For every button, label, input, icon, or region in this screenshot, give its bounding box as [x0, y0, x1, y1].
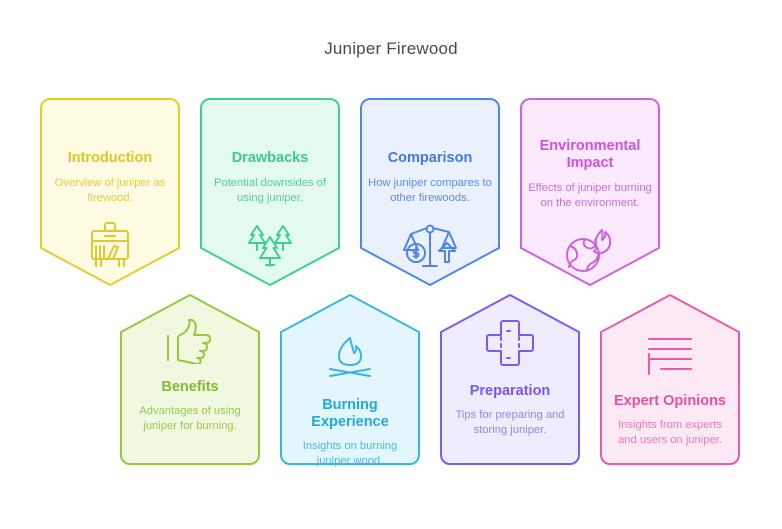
card-comparison[interactable]: ComparisonHow juniper compares to other …: [360, 98, 500, 286]
card-drawbacks[interactable]: DrawbacksPotential downsides of using ju…: [200, 98, 340, 286]
page-title: Juniper Firewood: [0, 39, 782, 59]
infographic-canvas: Juniper Firewood IntroductionOverview of…: [0, 0, 782, 529]
card-content-preparation: PreparationTips for preparing and storin…: [440, 294, 580, 439]
card-title-environmental-impact: Environmental Impact: [520, 138, 660, 172]
card-content-burning-experience: Burning ExperienceInsights on burning ju…: [280, 294, 420, 470]
card-description-drawbacks: Potential downsides of using juniper.: [200, 176, 340, 207]
globe-flame-icon: [561, 225, 619, 280]
card-description-burning-experience: Insights on burning juniper wood.: [280, 439, 420, 470]
card-title-benefits: Benefits: [155, 379, 224, 396]
campfire-icon: [322, 334, 378, 387]
card-title-expert-opinions: Expert Opinions: [608, 393, 732, 410]
card-content-benefits: BenefitsAdvantages of using juniper for …: [120, 294, 260, 435]
card-environmental-impact[interactable]: Environmental ImpactEffects of juniper b…: [520, 98, 660, 286]
card-burning-experience[interactable]: Burning ExperienceInsights on burning ju…: [280, 294, 420, 466]
card-content-drawbacks: DrawbacksPotential downsides of using ju…: [200, 98, 340, 275]
card-title-preparation: Preparation: [464, 383, 557, 400]
cabinet-bookshelf-icon: [83, 220, 137, 275]
card-title-drawbacks: Drawbacks: [226, 150, 315, 167]
card-expert-opinions[interactable]: Expert OpinionsInsights from experts and…: [600, 294, 740, 466]
cross-bandage-icon: [484, 318, 536, 373]
card-description-expert-opinions: Insights from experts and users on junip…: [600, 418, 740, 449]
scales-cost-icon: [403, 220, 457, 275]
card-description-environmental-impact: Effects of juniper burning on the enviro…: [520, 181, 660, 212]
card-introduction[interactable]: IntroductionOverview of juniper as firew…: [40, 98, 180, 286]
quote-lines-icon: [643, 334, 697, 383]
card-description-benefits: Advantages of using juniper for burning.: [120, 404, 260, 435]
card-content-environmental-impact: Environmental ImpactEffects of juniper b…: [520, 98, 660, 280]
card-title-introduction: Introduction: [62, 150, 159, 167]
thumbs-up-icon: [164, 318, 216, 369]
card-content-comparison: ComparisonHow juniper compares to other …: [360, 98, 500, 275]
card-description-comparison: How juniper compares to other firewoods.: [360, 176, 500, 207]
card-title-comparison: Comparison: [382, 150, 479, 167]
card-description-introduction: Overview of juniper as firewood.: [40, 176, 180, 207]
card-content-expert-opinions: Expert OpinionsInsights from experts and…: [600, 294, 740, 449]
card-title-burning-experience: Burning Experience: [280, 397, 420, 431]
card-benefits[interactable]: BenefitsAdvantages of using juniper for …: [120, 294, 260, 466]
pine-trees-icon: [242, 220, 298, 275]
card-content-introduction: IntroductionOverview of juniper as firew…: [40, 98, 180, 275]
card-description-preparation: Tips for preparing and storing juniper.: [440, 408, 580, 439]
card-preparation[interactable]: PreparationTips for preparing and storin…: [440, 294, 580, 466]
